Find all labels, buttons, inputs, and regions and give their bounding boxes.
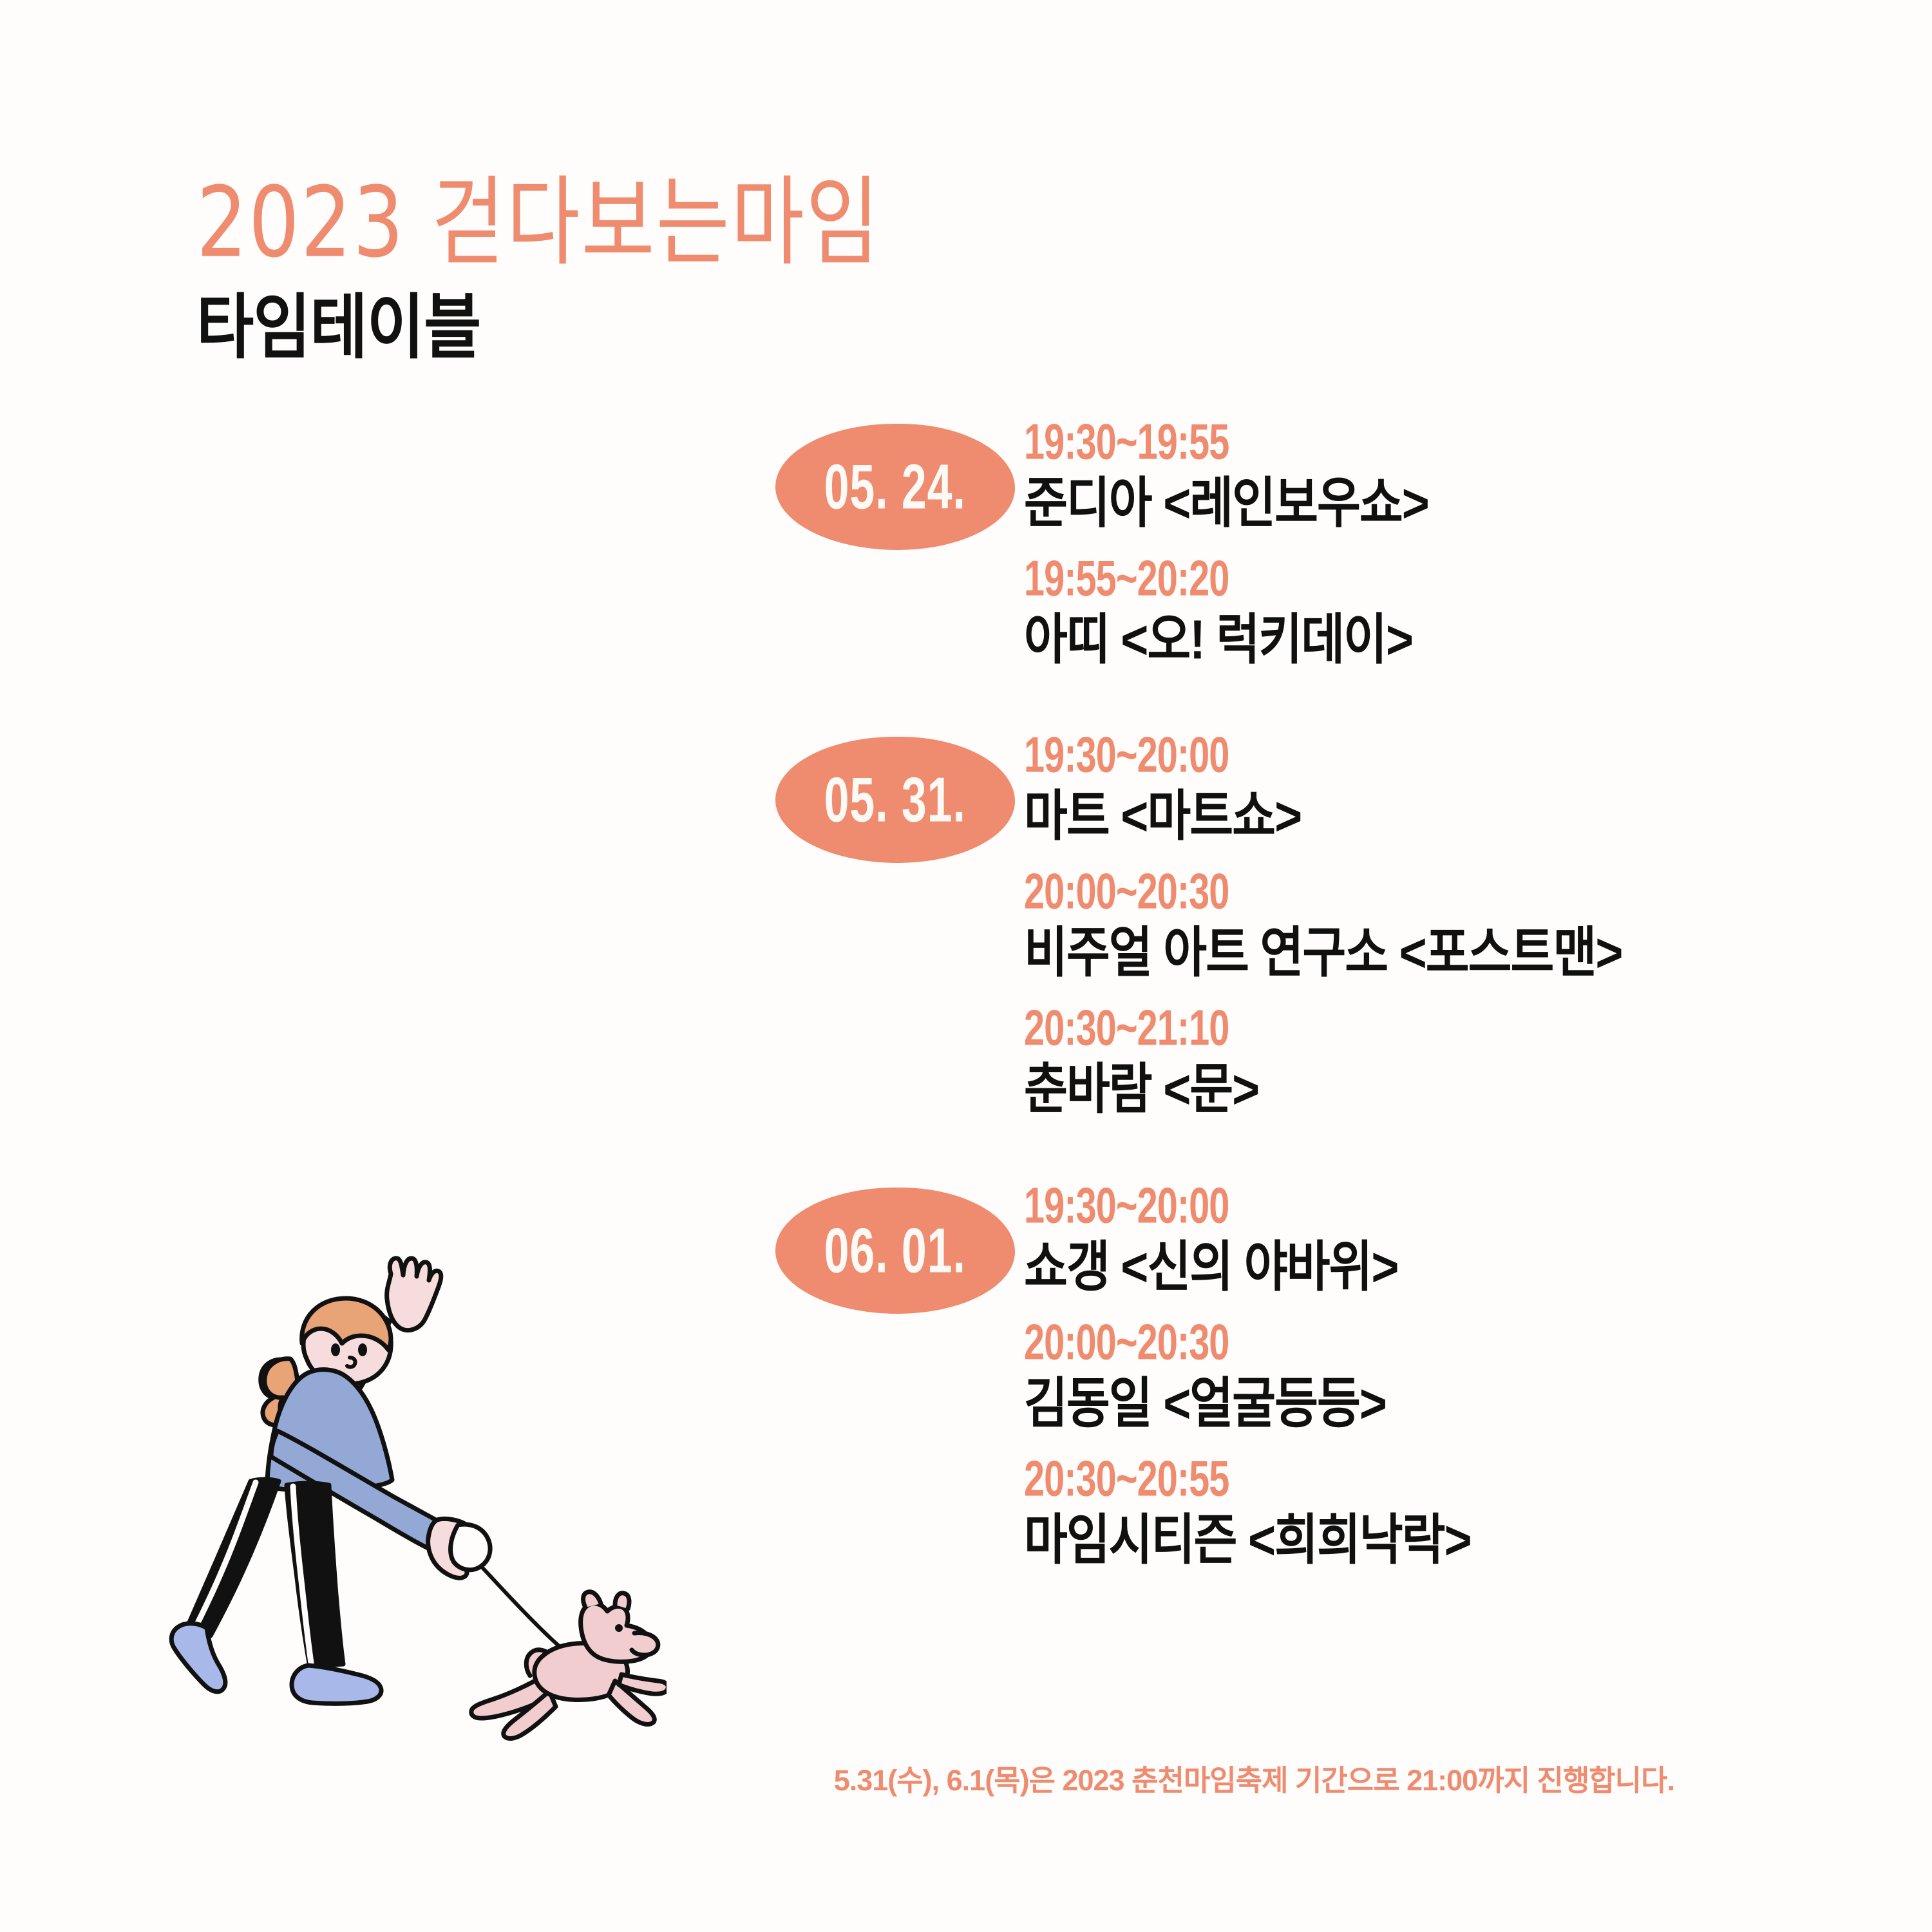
schedule-slot: 19:30~20:00 쇼갱 <신의 야바위>: [1024, 1181, 1900, 1289]
dog-eye: [615, 1624, 623, 1632]
date-badge[interactable]: 05. 31.: [775, 737, 1015, 863]
schedule-slot: 20:30~21:10 춘바람 <문>: [1024, 1003, 1900, 1112]
slot-time: 20:00~20:30: [1024, 867, 1839, 917]
footnote-text: 5.31(수), 6.1(목)은 2023 춘천마임축제 기간으로 21:00까…: [766, 1766, 1861, 1795]
schedule-slot: 19:55~20:20 아띠 <오! 럭키데이>: [1024, 554, 1900, 662]
slot-title: 마임시티즌 <희희낙락>: [1024, 1513, 1873, 1568]
poster-header: 2023 걷다보는마임 타임테이블: [196, 174, 1227, 355]
slot-list: 19:30~20:00 마트 <마트쇼> 20:00~20:30 비주얼 아트 …: [1024, 725, 1900, 1112]
date-badge[interactable]: 06. 01.: [775, 1188, 1015, 1314]
poster-canvas: 2023 걷다보는마임 타임테이블 05. 24. 19:30~19:55 준디…: [0, 0, 1932, 1932]
page-subtitle: 타임테이블: [196, 292, 1217, 363]
slot-title: 마트 <마트쇼>: [1024, 790, 1873, 844]
schedule-day-block: 05. 24. 19:30~19:55 준디아 <레인보우쇼> 19:55~20…: [766, 412, 1900, 662]
schedule-slot: 20:00~20:30 비주얼 아트 연구소 <포스트맨>: [1024, 867, 1900, 975]
shoe-front: [292, 1665, 381, 1703]
slot-time: 19:30~20:00: [1024, 730, 1839, 781]
date-badge[interactable]: 05. 24.: [775, 424, 1015, 550]
schedule-slot: 20:00~20:30 김동일 <얼굴등등>: [1024, 1318, 1900, 1426]
slot-time: 19:55~20:20: [1024, 554, 1839, 604]
slot-title: 김동일 <얼굴등등>: [1024, 1377, 1873, 1432]
date-badge-wrap: 06. 01.: [766, 1176, 1024, 1305]
leash-handle: [451, 1524, 490, 1570]
slot-title: 아띠 <오! 럭키데이>: [1024, 613, 1873, 668]
schedule-slot: 20:30~20:55 마임시티즌 <희희낙락>: [1024, 1454, 1900, 1562]
schedule-slot: 19:30~19:55 준디아 <레인보우쇼>: [1024, 417, 1900, 526]
date-badge-label: 05. 24.: [824, 450, 966, 523]
slot-time: 20:30~20:55: [1024, 1454, 1839, 1504]
slot-time: 20:00~20:30: [1024, 1318, 1839, 1368]
eye-right: [358, 1343, 367, 1356]
schedule-day-block: 05. 31. 19:30~20:00 마트 <마트쇼> 20:00~20:30…: [766, 725, 1900, 1112]
raised-hand: [387, 1258, 441, 1331]
date-badge-wrap: 05. 24.: [766, 412, 1024, 541]
slot-list: 19:30~19:55 준디아 <레인보우쇼> 19:55~20:20 아띠 <…: [1024, 412, 1900, 662]
date-badge-label: 06. 01.: [824, 1214, 966, 1287]
slot-title: 비주얼 아트 연구소 <포스트맨>: [1024, 926, 1873, 981]
schedule-day-block: 06. 01. 19:30~20:00 쇼갱 <신의 야바위> 20:00~20…: [766, 1176, 1900, 1562]
page-title: 2023 걷다보는마임: [196, 174, 1196, 273]
slot-list: 19:30~20:00 쇼갱 <신의 야바위> 20:00~20:30 김동일 …: [1024, 1176, 1900, 1562]
slot-title: 쇼갱 <신의 야바위>: [1024, 1240, 1873, 1295]
slot-title: 준디아 <레인보우쇼>: [1024, 477, 1873, 531]
slot-time: 20:30~21:10: [1024, 1003, 1839, 1054]
slot-time: 19:30~19:55: [1024, 417, 1839, 468]
slot-title: 춘바람 <문>: [1024, 1063, 1873, 1117]
person-walking-dog-illustration: [164, 1249, 667, 1777]
dog-snout: [632, 1633, 658, 1655]
eye-left: [331, 1343, 340, 1356]
shoe-back: [171, 1624, 225, 1692]
date-badge-wrap: 05. 31.: [766, 725, 1024, 854]
date-badge-label: 05. 31.: [824, 763, 966, 836]
slot-time: 19:30~20:00: [1024, 1181, 1839, 1231]
schedule-slot: 19:30~20:00 마트 <마트쇼>: [1024, 730, 1900, 838]
schedule-list: 05. 24. 19:30~19:55 준디아 <레인보우쇼> 19:55~20…: [766, 412, 1900, 1562]
